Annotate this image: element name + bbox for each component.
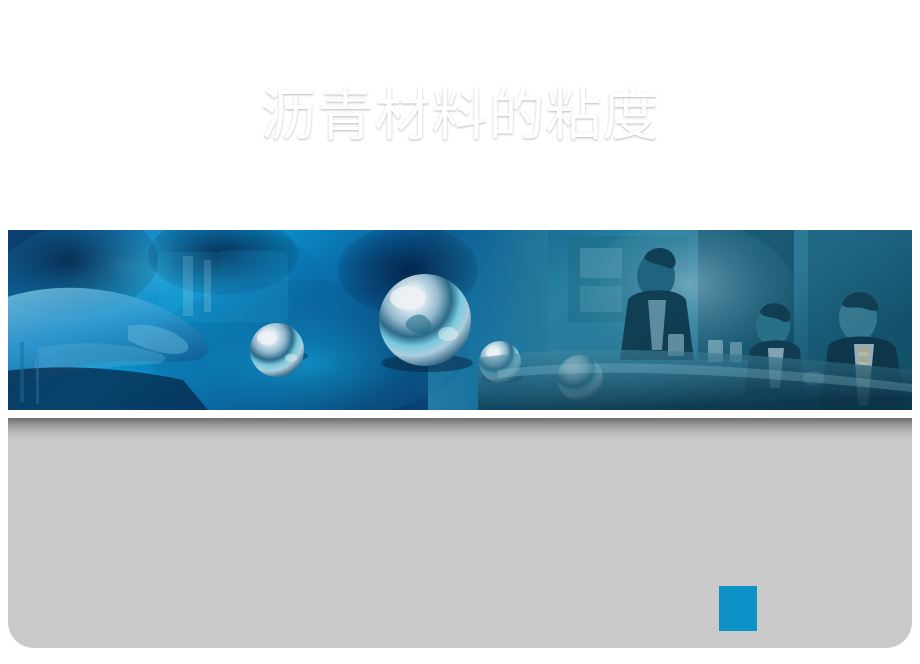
content-panel bbox=[8, 418, 912, 648]
presentation-slide: 沥青材料的粘度 bbox=[0, 0, 920, 664]
page-title: 沥青材料的粘度 bbox=[8, 85, 912, 149]
decorative-photo-banner bbox=[8, 230, 912, 410]
panel-top-shadow bbox=[8, 418, 912, 440]
panel-body-text bbox=[8, 442, 912, 648]
photo-banner-graphic bbox=[8, 230, 912, 410]
accent-square bbox=[719, 586, 757, 631]
title-banner: 沥青材料的粘度 bbox=[8, 7, 912, 224]
